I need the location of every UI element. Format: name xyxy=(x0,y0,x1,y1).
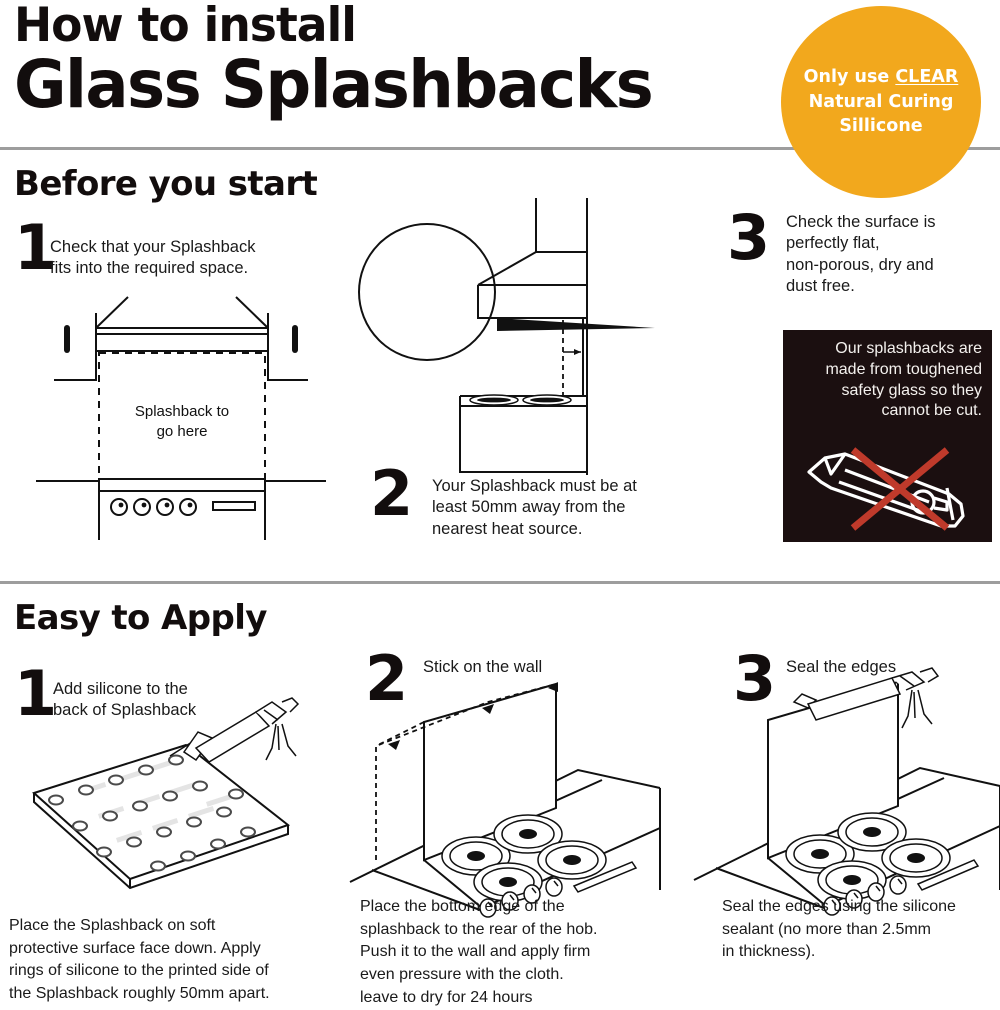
instruction-sheet: How to install Glass Splashbacks Only us… xyxy=(0,0,1000,1000)
warning-box-text: Our splashbacks are made from toughened … xyxy=(793,339,982,422)
diagram-label-splashback-here-l1: Splashback to xyxy=(135,403,229,420)
section-heading-before-you-start: Before you start xyxy=(14,164,317,204)
page-title-line2: Glass Splashbacks xyxy=(14,52,652,118)
badge-line3: Sillicone xyxy=(839,116,922,136)
step-text-before-1: Check that your Splashback fits into the… xyxy=(50,237,310,280)
page-title-line1: How to install xyxy=(14,2,356,49)
step-number-before-2: 2 xyxy=(370,468,413,521)
utility-knife-crossed-out-icon xyxy=(801,448,977,534)
diagram-stick-on-wall xyxy=(360,680,660,890)
diagram-silicone-on-panel xyxy=(20,690,320,890)
badge-text: Only use CLEAR Natural Curing Sillicone xyxy=(804,65,959,140)
section-divider xyxy=(0,581,1000,584)
section-heading-easy-to-apply: Easy to Apply xyxy=(14,598,267,638)
badge-line1-pre: Only use xyxy=(804,67,896,87)
caulking-gun-icon xyxy=(170,698,298,762)
caption-apply-2: Place the bottom edge of the splashback … xyxy=(360,896,690,1010)
diagram-front-view-kitchen: Splashback to go here xyxy=(36,300,326,540)
caption-apply-3: Seal the edges using the silicone sealan… xyxy=(722,896,1000,964)
badge-line1-emph: CLEAR xyxy=(895,67,958,87)
warning-box-cannot-be-cut: Our splashbacks are made from toughened … xyxy=(783,330,992,542)
caption-apply-1: Place the Splashback on soft protective … xyxy=(9,915,339,1006)
diagram-side-view-clearance: 50mm xyxy=(355,200,675,475)
clear-silicone-badge: Only use CLEAR Natural Curing Sillicone xyxy=(781,6,981,198)
step-text-before-2: Your Splashback must be at least 50mm aw… xyxy=(432,476,682,540)
badge-line2: Natural Curing xyxy=(809,92,954,112)
diagram-label-splashback-here-l2: go here xyxy=(157,423,208,440)
step-text-apply-3: Seal the edges xyxy=(786,657,1000,678)
step-text-apply-2: Stick on the wall xyxy=(423,657,673,678)
step-text-before-3: Check the surface is perfectly flat, non… xyxy=(786,212,996,298)
step-number-before-3: 3 xyxy=(727,212,770,265)
diagram-seal-the-edges xyxy=(706,680,1000,890)
